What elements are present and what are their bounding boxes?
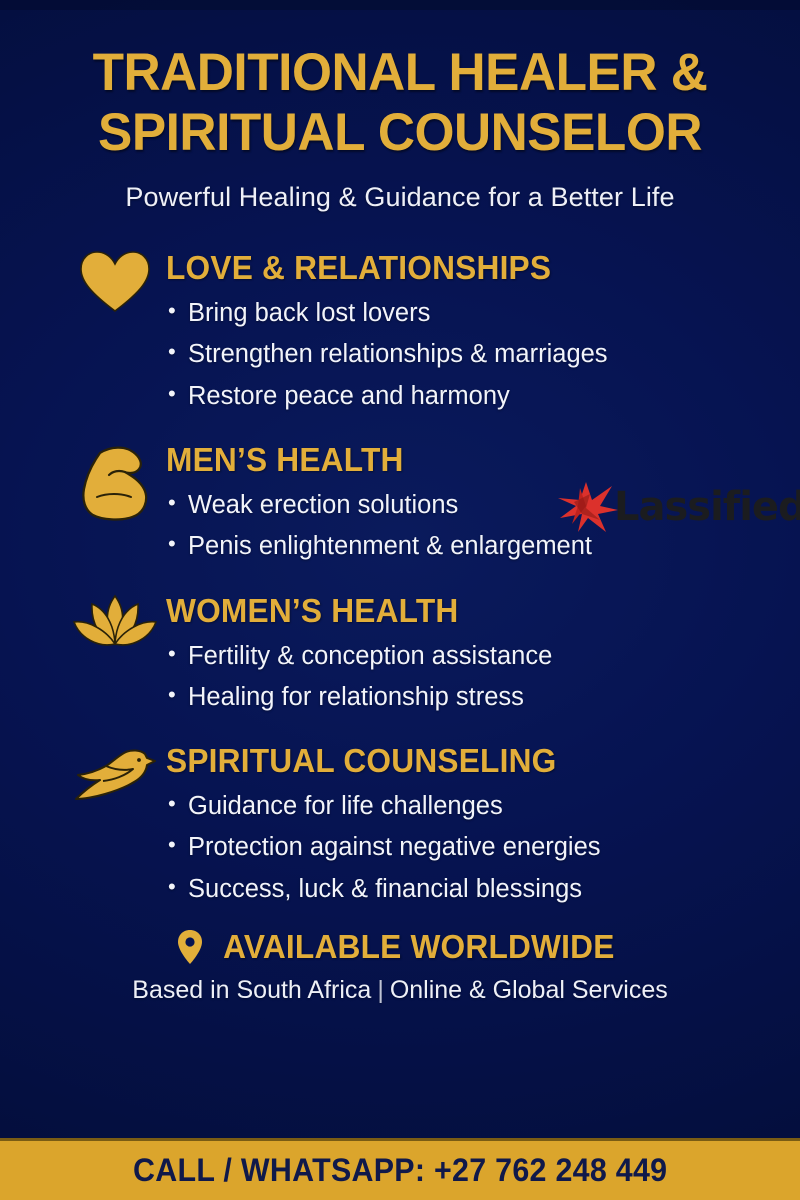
list-item: Success, luck & financial blessings xyxy=(188,869,780,910)
list-item: Strengthen relationships & marriages xyxy=(188,334,780,375)
service-sections: LOVE & RELATIONSHIPS Bring back lost lov… xyxy=(0,249,800,910)
list-item: Restore peace and harmony xyxy=(188,376,780,417)
section-title: MEN’S HEALTH xyxy=(166,441,755,479)
call-whatsapp-text: CALL / WHATSAPP: +27 762 248 449 xyxy=(133,1152,667,1189)
list-item: Healing for relationship stress xyxy=(188,677,780,718)
section-womens-health: WOMEN’S HEALTH Fertility & conception as… xyxy=(72,592,780,719)
section-spiritual-counseling: SPIRITUAL COUNSELING Guidance for life c… xyxy=(72,742,780,910)
section-title: WOMEN’S HEALTH xyxy=(166,592,755,630)
availability-headline: AVAILABLE WORLDWIDE xyxy=(0,928,800,966)
list-item: Fertility & conception assistance xyxy=(188,636,780,677)
poster-root: TRADITIONAL HEALER & SPIRITUAL COUNSELOR… xyxy=(0,0,800,1200)
list-item: Weak erection solutions xyxy=(188,485,780,526)
list-item: Bring back lost lovers xyxy=(188,293,780,334)
text-divider: | xyxy=(371,976,390,1004)
page-subtitle: Powerful Healing & Guidance for a Better… xyxy=(0,182,800,213)
bullet-list: Fertility & conception assistance Healin… xyxy=(166,636,780,719)
service-scope: Online & Global Services xyxy=(390,976,668,1004)
heart-icon xyxy=(72,249,158,313)
lotus-flower-icon xyxy=(72,592,158,652)
list-item: Penis enlightenment & enlargement xyxy=(188,526,780,567)
dove-icon xyxy=(72,742,158,804)
bullet-list: Weak erection solutions Penis enlightenm… xyxy=(166,485,780,568)
section-body: MEN’S HEALTH Weak erection solutions Pen… xyxy=(158,441,780,568)
location-pin-icon xyxy=(177,929,203,965)
based-location: Based in South Africa xyxy=(132,976,371,1004)
list-item: Protection against negative energies xyxy=(188,827,780,868)
bullet-list: Guidance for life challenges Protection … xyxy=(166,786,780,910)
section-love-relationships: LOVE & RELATIONSHIPS Bring back lost lov… xyxy=(72,249,780,417)
page-title-line-1: TRADITIONAL HEALER & xyxy=(12,46,788,100)
section-body: SPIRITUAL COUNSELING Guidance for life c… xyxy=(158,742,780,910)
section-title: SPIRITUAL COUNSELING xyxy=(166,742,755,780)
flexed-bicep-icon xyxy=(72,441,158,521)
poster-header: TRADITIONAL HEALER & SPIRITUAL COUNSELOR… xyxy=(0,0,800,213)
section-mens-health: MEN’S HEALTH Weak erection solutions Pen… xyxy=(72,441,780,568)
page-title-line-2: SPIRITUAL COUNSELOR xyxy=(12,106,788,160)
bullet-list: Bring back lost lovers Strengthen relati… xyxy=(166,293,780,417)
availability-title: AVAILABLE WORLDWIDE xyxy=(223,928,614,966)
section-body: WOMEN’S HEALTH Fertility & conception as… xyxy=(158,592,780,719)
availability-subtext: Based in South Africa|Online & Global Se… xyxy=(0,976,800,1005)
section-body: LOVE & RELATIONSHIPS Bring back lost lov… xyxy=(158,249,780,417)
list-item: Guidance for life challenges xyxy=(188,786,780,827)
section-title: LOVE & RELATIONSHIPS xyxy=(166,249,755,287)
call-whatsapp-bar[interactable]: CALL / WHATSAPP: +27 762 248 449 xyxy=(0,1138,800,1200)
